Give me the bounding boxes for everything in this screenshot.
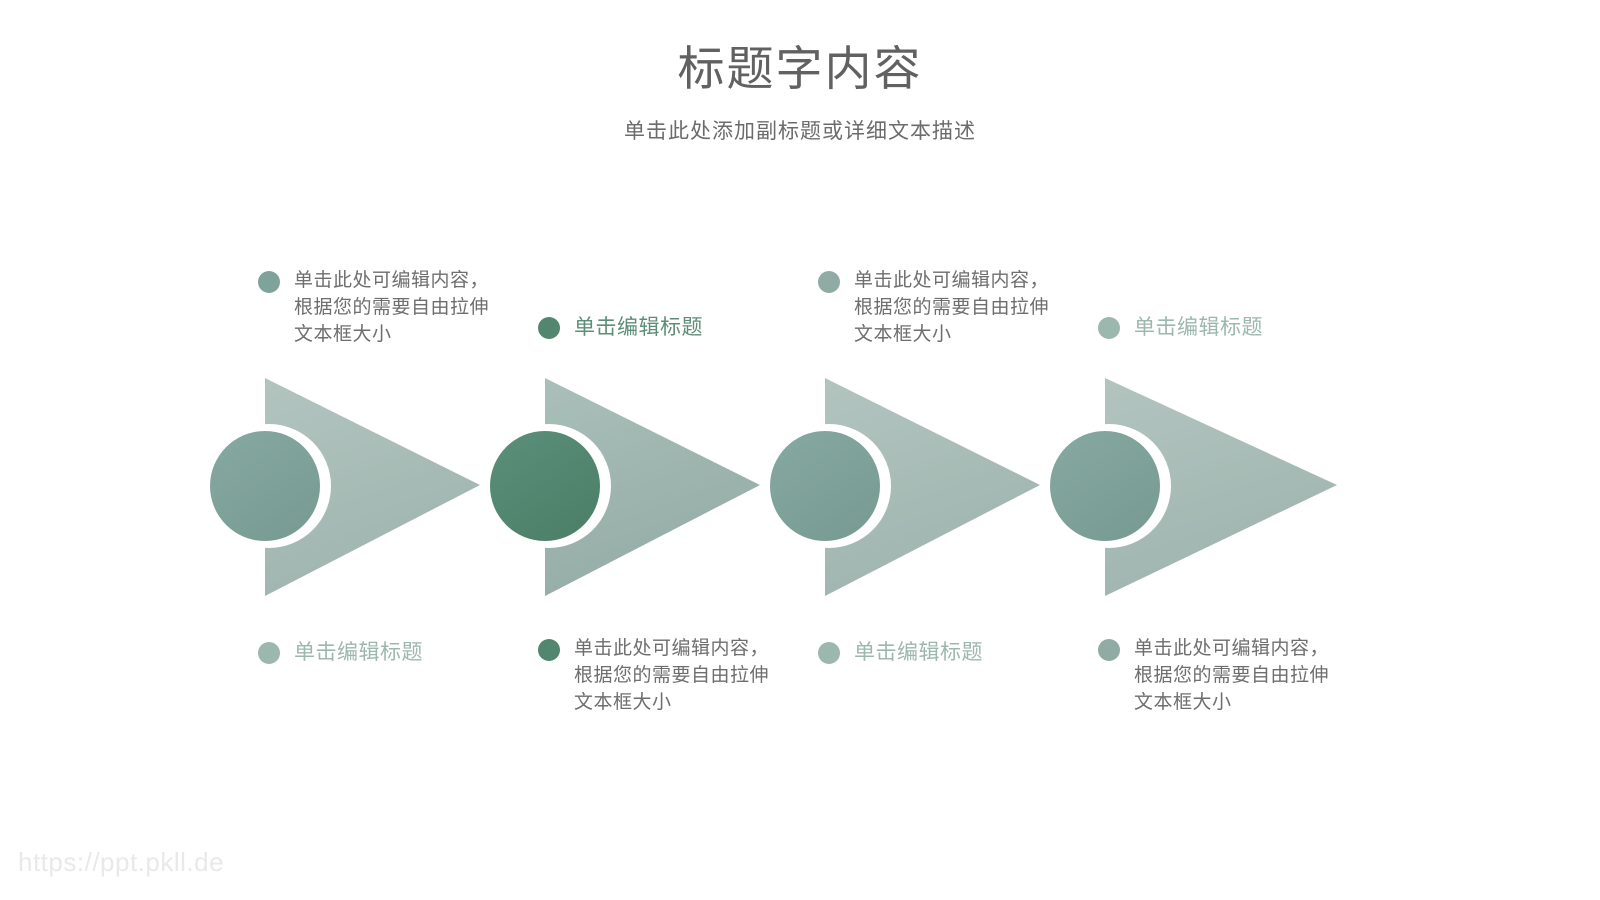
arrow-shape-3: [772, 378, 1072, 596]
bullet-dot-icon: [538, 639, 560, 661]
arrow-shape-2: [492, 378, 792, 596]
step-circle[interactable]: [770, 431, 880, 541]
bullet-dot-icon: [818, 642, 840, 664]
bullet-dot-icon: [538, 317, 560, 339]
process-diagram: 单击此处可编辑内容， 根据您的需要自由拉伸 文本框大小 单击编辑标题 单击此处可…: [0, 0, 1600, 900]
callout-bottom-2[interactable]: 单击此处可编辑内容， 根据您的需要自由拉伸 文本框大小: [538, 636, 788, 717]
step-circle[interactable]: [490, 431, 600, 541]
callout-bottom-1[interactable]: 单击编辑标题: [258, 638, 508, 668]
watermark: https://ppt.pkll.de: [18, 847, 224, 878]
process-step-4[interactable]: [1052, 378, 1352, 596]
process-step-1[interactable]: [212, 378, 512, 596]
callout-bottom-2-text: 单击此处可编辑内容， 根据您的需要自由拉伸 文本框大小: [574, 636, 769, 717]
callout-bottom-3[interactable]: 单击编辑标题: [818, 638, 1068, 668]
callout-bottom-4-text: 单击此处可编辑内容， 根据您的需要自由拉伸 文本框大小: [1134, 636, 1329, 717]
callout-top-3[interactable]: 单击此处可编辑内容， 根据您的需要自由拉伸 文本框大小: [818, 268, 1068, 349]
callout-top-1-text: 单击此处可编辑内容， 根据您的需要自由拉伸 文本框大小: [294, 268, 489, 349]
callout-top-4-text: 单击编辑标题: [1134, 313, 1263, 343]
callout-bottom-3-text: 单击编辑标题: [854, 638, 983, 668]
bullet-dot-icon: [818, 271, 840, 293]
callout-top-2[interactable]: 单击编辑标题: [538, 313, 788, 343]
step-circle[interactable]: [1050, 431, 1160, 541]
bullet-dot-icon: [1098, 317, 1120, 339]
callout-bottom-4[interactable]: 单击此处可编辑内容， 根据您的需要自由拉伸 文本框大小: [1098, 636, 1348, 717]
slide-canvas: 标题字内容 单击此处添加副标题或详细文本描述: [0, 0, 1600, 900]
process-step-3[interactable]: [772, 378, 1072, 596]
bullet-dot-icon: [1098, 639, 1120, 661]
callout-top-2-text: 单击编辑标题: [574, 313, 703, 343]
arrow-shape-4: [1052, 378, 1352, 596]
arrow-shape-1: [212, 378, 512, 596]
callout-bottom-1-text: 单击编辑标题: [294, 638, 423, 668]
callout-top-4[interactable]: 单击编辑标题: [1098, 313, 1348, 343]
callout-top-3-text: 单击此处可编辑内容， 根据您的需要自由拉伸 文本框大小: [854, 268, 1049, 349]
bullet-dot-icon: [258, 271, 280, 293]
callout-top-1[interactable]: 单击此处可编辑内容， 根据您的需要自由拉伸 文本框大小: [258, 268, 508, 349]
step-circle[interactable]: [210, 431, 320, 541]
process-step-2[interactable]: [492, 378, 792, 596]
bullet-dot-icon: [258, 642, 280, 664]
